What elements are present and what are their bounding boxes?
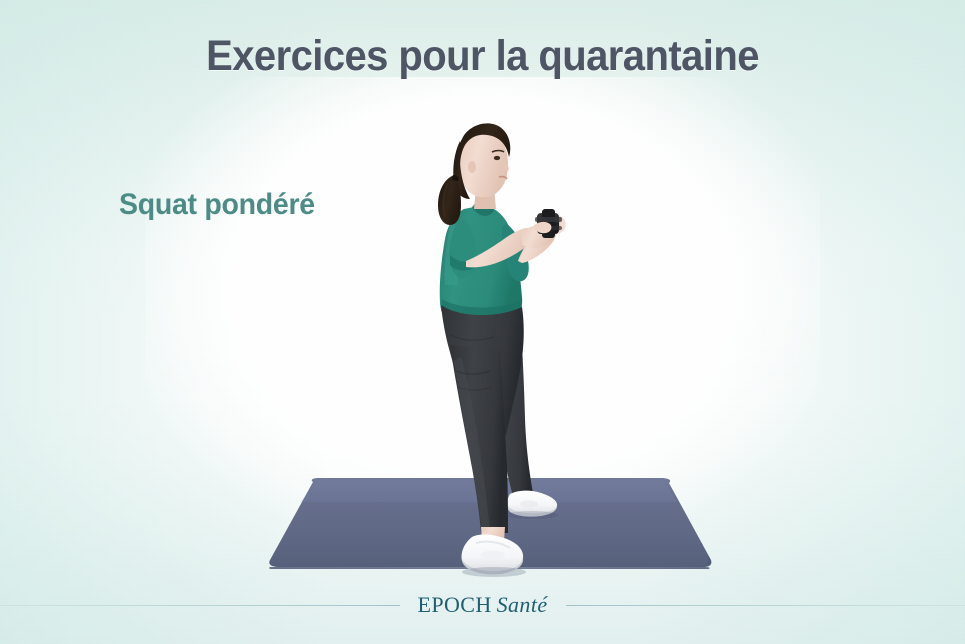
footer: EPOCHSanté [0,566,965,644]
video-frame: Exercices pour la quarantaine Squat pond… [0,0,965,644]
background-gradient [0,0,965,644]
exercise-name-label: Squat pondéré [119,188,315,222]
brand-word-sante: Santé [497,592,548,617]
footer-rule-right [566,605,965,606]
page-title: Exercices pour la quarantaine [34,32,931,81]
brand-word-epoch: EPOCH [418,592,492,617]
brand-logo: EPOCHSanté [400,592,566,618]
footer-rule-left [0,605,400,606]
